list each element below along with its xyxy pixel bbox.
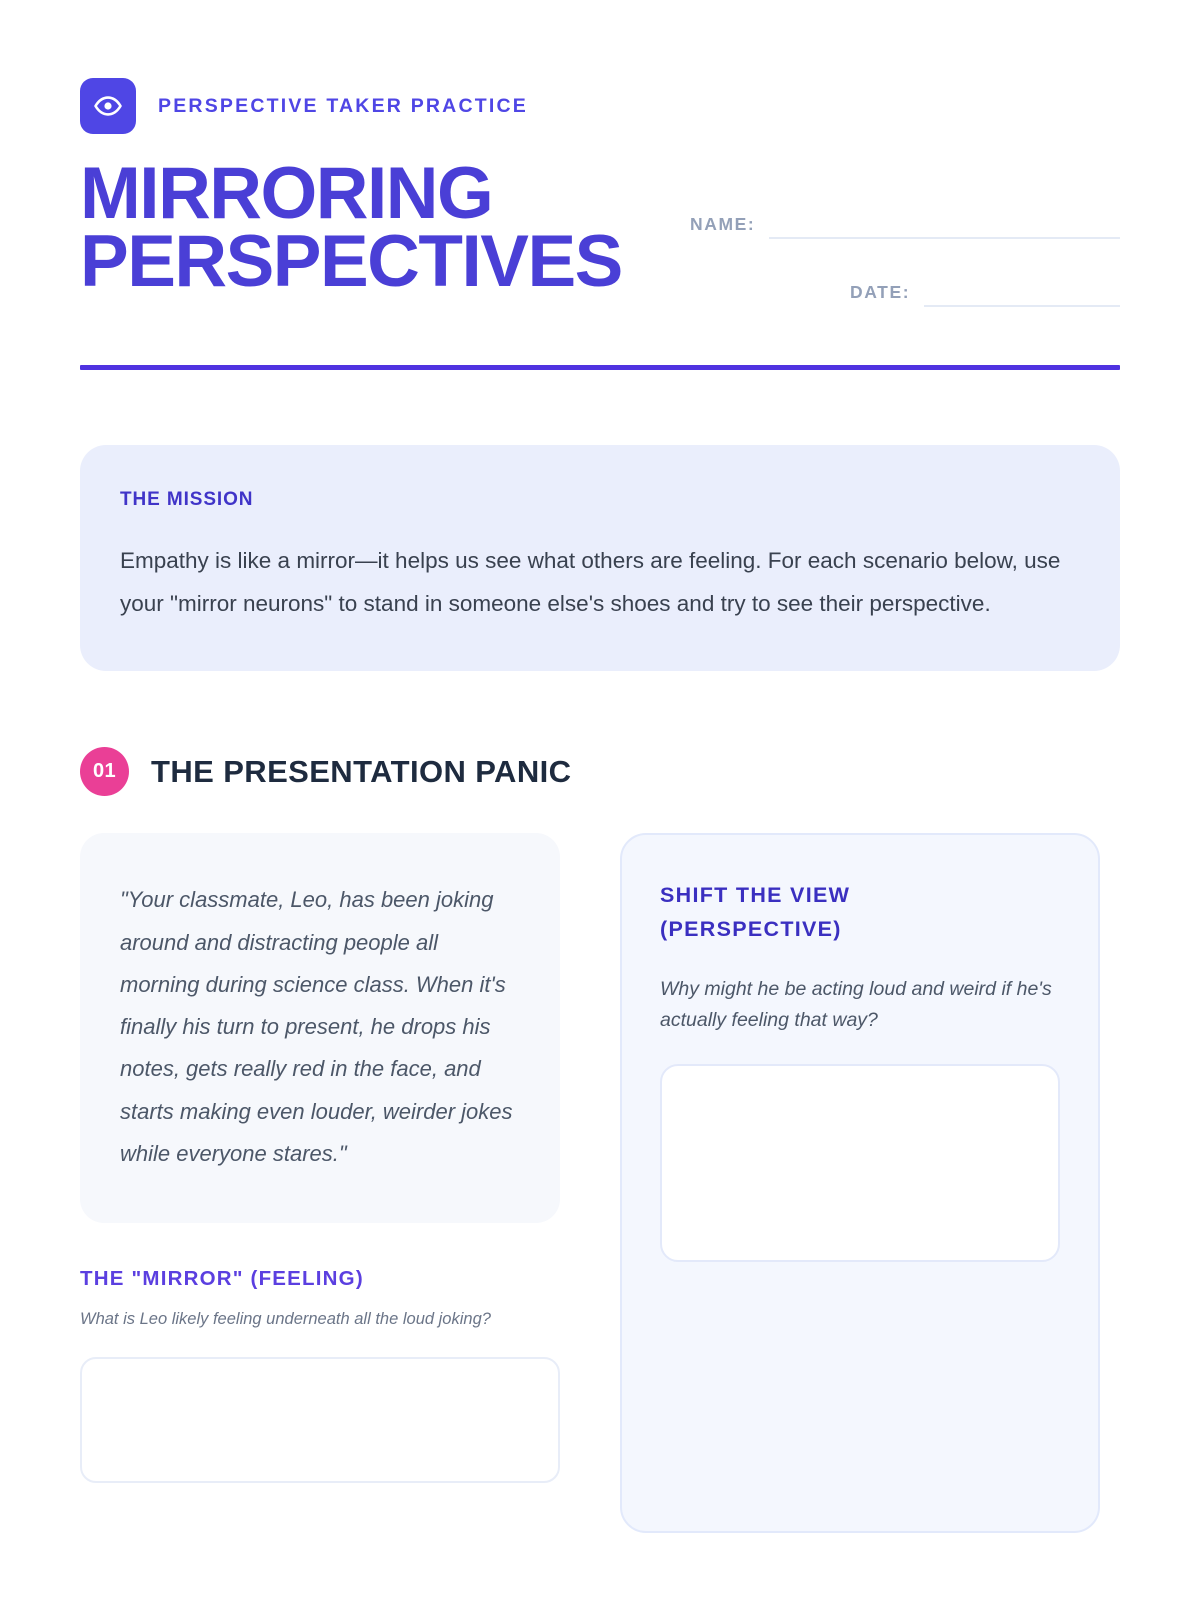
mission-card: THE MISSION Empathy is like a mirror—it … xyxy=(80,445,1120,671)
scenario-card: "Your classmate, Leo, has been joking ar… xyxy=(80,833,560,1223)
eye-icon xyxy=(80,78,136,134)
mirror-field-heading: THE "MIRROR" (FEELING) xyxy=(80,1267,560,1291)
perspective-answer-input[interactable] xyxy=(660,1064,1060,1262)
brand-label: PERSPECTIVE TAKER PRACTICE xyxy=(158,95,528,118)
mirror-field-hint: What is Leo likely feeling underneath al… xyxy=(80,1307,560,1333)
mirror-field-block: THE "MIRROR" (FEELING) What is Leo likel… xyxy=(80,1267,560,1483)
meta-fields: NAME: DATE: xyxy=(690,214,1120,307)
date-field-row: DATE: xyxy=(690,282,1120,307)
column-right: SHIFT THE VIEW (PERSPECTIVE) Why might h… xyxy=(620,833,1100,1533)
section-columns: "Your classmate, Leo, has been joking ar… xyxy=(80,833,1120,1533)
date-label: DATE: xyxy=(850,282,910,307)
date-input-line[interactable] xyxy=(924,305,1120,307)
column-left: "Your classmate, Leo, has been joking ar… xyxy=(80,833,560,1482)
section-title: THE PRESENTATION PANIC xyxy=(151,754,571,790)
mirror-answer-input[interactable] xyxy=(80,1357,560,1483)
scenario-text: "Your classmate, Leo, has been joking ar… xyxy=(120,879,520,1175)
perspective-field-hint: Why might he be acting loud and weird if… xyxy=(660,974,1060,1036)
header-divider xyxy=(80,365,1120,370)
name-input-line[interactable] xyxy=(769,237,1120,239)
perspective-panel: SHIFT THE VIEW (PERSPECTIVE) Why might h… xyxy=(620,833,1100,1533)
section-number-badge: 01 xyxy=(80,747,129,796)
mission-heading: THE MISSION xyxy=(120,489,1080,511)
worksheet-header: PERSPECTIVE TAKER PRACTICE MIRRORING PER… xyxy=(80,0,1120,370)
mission-body: Empathy is like a mirror—it helps us see… xyxy=(120,539,1080,625)
section-header-01: 01 THE PRESENTATION PANIC xyxy=(80,747,1120,796)
brand-row: PERSPECTIVE TAKER PRACTICE xyxy=(80,78,1120,134)
perspective-field-heading: SHIFT THE VIEW (PERSPECTIVE) xyxy=(660,879,1060,946)
name-label: NAME: xyxy=(690,214,755,239)
name-field-row: NAME: xyxy=(690,214,1120,239)
worksheet-page: PERSPECTIVE TAKER PRACTICE MIRRORING PER… xyxy=(0,0,1200,1600)
title-row: MIRRORING PERSPECTIVES NAME: DATE: xyxy=(80,134,1120,307)
page-title: MIRRORING PERSPECTIVES xyxy=(80,160,622,296)
